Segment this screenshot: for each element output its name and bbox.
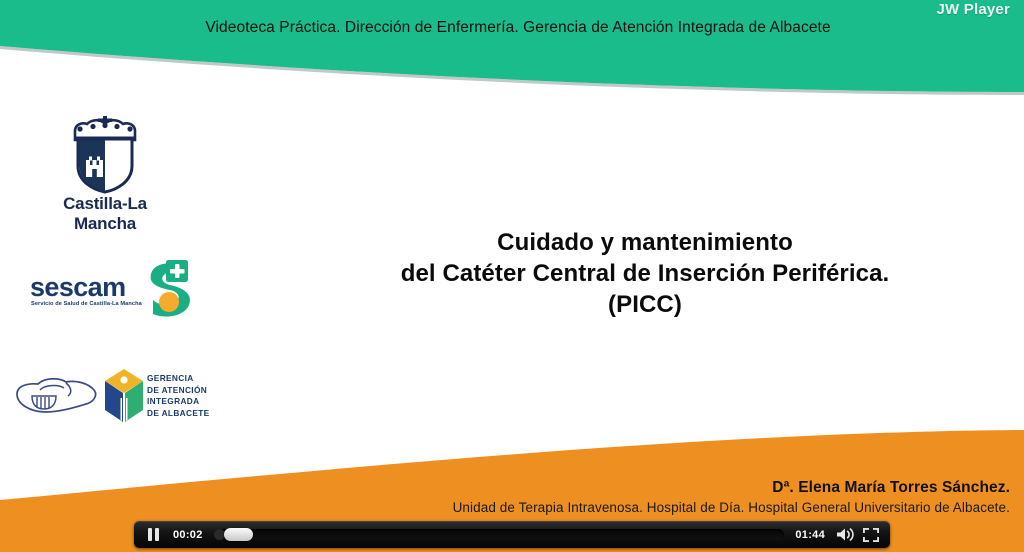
shield-icon xyxy=(75,136,135,194)
vessel-icon xyxy=(14,374,100,422)
fullscreen-button[interactable] xyxy=(858,521,884,548)
progress-scrubber[interactable] xyxy=(214,529,785,540)
cube-icon xyxy=(104,368,144,424)
progress-knob[interactable] xyxy=(224,528,253,541)
pause-icon xyxy=(148,528,159,541)
logo-gerencia-label: GERENCIA DE ATENCIÓN INTEGRADA DE ALBACE… xyxy=(147,373,210,419)
author-affiliation: Unidad de Terapia Intravenosa. Hospital … xyxy=(453,500,1010,515)
slide-title-line-3: (PICC) xyxy=(300,289,990,320)
jwplayer-brand-label: JW Player xyxy=(936,1,1010,18)
play-pause-button[interactable] xyxy=(140,521,166,548)
slide-title-line-2: del Catéter Central de Inserción Perifér… xyxy=(300,258,990,289)
logo-gerencia-albacete: GERENCIA DE ATENCIÓN INTEGRADA DE ALBACE… xyxy=(14,366,214,432)
logo-gerencia-line-4: DE ALBACETE xyxy=(147,408,210,420)
author-name: Dª. Elena María Torres Sánchez. xyxy=(772,479,1010,497)
slide-title: Cuidado y mantenimiento del Catéter Cent… xyxy=(300,227,990,320)
fullscreen-icon xyxy=(863,528,879,542)
duration-label: 01:44 xyxy=(788,529,832,541)
logo-gerencia-line-3: INTEGRADA xyxy=(147,396,210,408)
video-player[interactable]: JW Player Videoteca Práctica. Dirección … xyxy=(0,0,1024,552)
progress-buffer xyxy=(214,529,225,540)
logo-gerencia-line-2: DE ATENCIÓN xyxy=(147,385,210,397)
header-green-band xyxy=(0,0,1024,92)
control-bar-right-group xyxy=(832,521,884,548)
slide-title-line-1: Cuidado y mantenimiento xyxy=(300,227,990,258)
slide-header-subtitle: Videoteca Práctica. Dirección de Enferme… xyxy=(0,19,1024,37)
sescam-mark-icon xyxy=(134,258,196,320)
logo-gerencia-line-1: GERENCIA xyxy=(147,373,210,385)
logo-castilla-la-mancha: Castilla-La Mancha xyxy=(30,116,180,216)
logo-sescam-wordmark: sescam xyxy=(30,272,126,303)
logo-castilla-la-mancha-label: Castilla-La Mancha xyxy=(30,194,180,234)
logo-sescam: sescam Servicio de Salud de Castilla-La … xyxy=(28,258,188,322)
volume-icon xyxy=(836,527,855,542)
logo-sescam-tagline: Servicio de Salud de Castilla-La Mancha xyxy=(31,301,142,307)
current-time-label: 00:02 xyxy=(166,529,210,541)
player-control-bar[interactable]: 00:02 01:44 xyxy=(134,521,890,548)
volume-button[interactable] xyxy=(832,521,858,548)
